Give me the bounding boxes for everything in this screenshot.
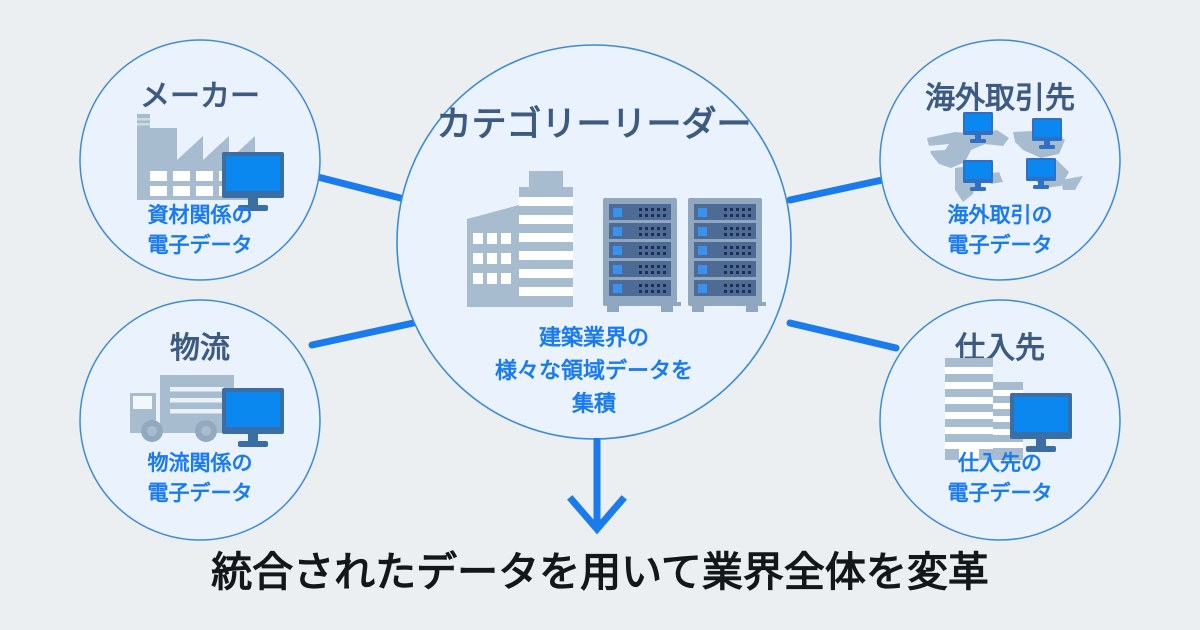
- diagram-canvas: カテゴリーリーダー 建築業界の 様々な領域データを 集積 メーカー 資材関係の: [0, 0, 1200, 630]
- server-rack-icon: [603, 198, 681, 312]
- logistics-subtitle-line-1: 物流関係の: [148, 451, 253, 475]
- server-rack-icon: [688, 198, 766, 312]
- overseas-subtitle-line-1: 海外取引の: [948, 203, 1053, 227]
- node-overseas[interactable]: 海外取引先 海外取引の 電子データ: [880, 40, 1120, 280]
- logistics-subtitle-line-2: 電子データ: [148, 481, 253, 505]
- supplier-subtitle-line-1: 仕入先の: [957, 451, 1042, 475]
- overseas-title: 海外取引先: [925, 82, 1075, 115]
- node-center-category-leader[interactable]: カテゴリーリーダー 建築業界の 様々な領域データを 集積: [397, 45, 791, 439]
- logistics-title: 物流: [170, 332, 230, 365]
- figure-layer: カテゴリーリーダー 建築業界の 様々な領域データを 集積 メーカー 資材関係の: [0, 0, 1200, 630]
- center-subtitle-line-2: 様々な領域データを: [495, 358, 693, 383]
- node-logistics[interactable]: 物流 物流関係の 電子データ: [80, 300, 320, 540]
- supplier-subtitle-line-2: 電子データ: [948, 481, 1053, 505]
- overseas-subtitle-line-2: 電子データ: [948, 233, 1053, 257]
- node-supplier[interactable]: 仕入先 仕入先の 電子データ: [880, 300, 1120, 540]
- down-arrow-icon: [572, 438, 622, 529]
- node-maker[interactable]: メーカー 資材関係の 電子データ: [80, 40, 320, 280]
- bottom-caption: 統合されたデータを用いて業界全体を変革: [211, 549, 989, 595]
- center-title: カテゴリーリーダー: [436, 104, 751, 144]
- maker-subtitle-line-2: 電子データ: [148, 233, 253, 257]
- center-subtitle-line-3: 集積: [571, 391, 617, 416]
- maker-subtitle-line-1: 資材関係の: [148, 203, 253, 227]
- center-subtitle-line-1: 建築業界の: [538, 325, 649, 350]
- maker-title: メーカー: [140, 80, 260, 113]
